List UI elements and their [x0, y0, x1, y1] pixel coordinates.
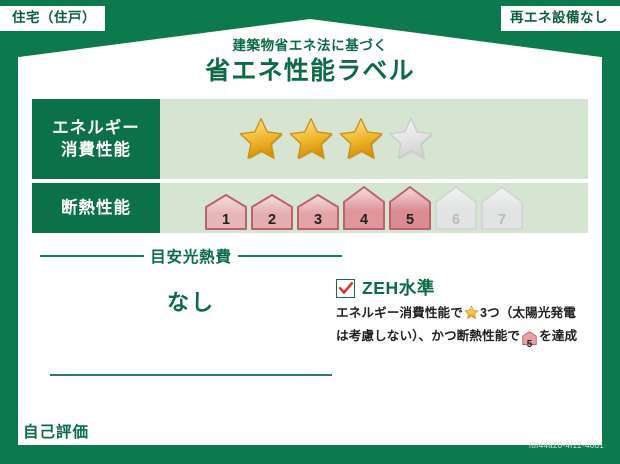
- footer-right-group: 評価日 2025年10月30日 f8f44a20-4f12-46d1: [455, 419, 604, 450]
- status-badge: 自己評価: [18, 422, 94, 445]
- house-icon-inactive: [480, 186, 524, 230]
- star-filled-icon: [288, 116, 334, 162]
- utility-cost-underline: [50, 374, 332, 376]
- zeh-desc-star-count: 3つ（太陽光発電: [480, 306, 576, 320]
- insulation-step: 2: [250, 186, 294, 230]
- zeh-desc-part2: は考慮しない）、かつ断熱性能で: [336, 329, 520, 343]
- house-icon-inactive: [434, 186, 478, 230]
- inline-star-icon: [464, 305, 479, 327]
- star-filled-icon: [338, 116, 384, 162]
- row-energy-performance: エネルギー 消費性能: [32, 99, 588, 179]
- inline-house-num: 5: [522, 340, 537, 350]
- zeh-block: ZEH水準 エネルギー消費性能で 3つ（太陽光発電は考慮しない）、かつ断熱性能で: [336, 279, 588, 351]
- label-footer: 自己評価 4355狭山市水野36期1棟1号棟 評価日 2025年10月30日 f…: [0, 416, 620, 464]
- energy-label-line1: エネルギー: [52, 117, 140, 139]
- insulation-step: 5: [388, 186, 432, 230]
- zeh-description: エネルギー消費性能で 3つ（太陽光発電は考慮しない）、かつ断熱性能で: [336, 304, 588, 351]
- house-icon-active: [296, 186, 340, 230]
- insulation-step: 6: [434, 186, 478, 230]
- utility-cost-value: なし: [40, 285, 342, 317]
- rule-right: [238, 255, 342, 257]
- rule-left: [40, 255, 144, 257]
- house-icon-active: [388, 186, 432, 230]
- zeh-desc-part3: を達成: [539, 329, 577, 343]
- insulation-performance-value: 1234567: [160, 183, 588, 233]
- insulation-step: 7: [480, 186, 524, 230]
- house-icon-active: [204, 186, 248, 230]
- insulation-step: 4: [342, 186, 386, 230]
- house-icon-active: [342, 186, 386, 230]
- star-filled-icon: [238, 116, 284, 162]
- energy-label-line2: 消費性能: [61, 139, 131, 161]
- energy-performance-label: エネルギー 消費性能: [32, 99, 160, 179]
- star-rating: [238, 116, 434, 162]
- zeh-desc-part1: エネルギー消費性能で: [336, 306, 463, 320]
- star-empty-icon: [388, 116, 434, 162]
- utility-cost-title: 目安光熱費: [150, 245, 232, 267]
- insulation-label-text: 断熱性能: [61, 197, 131, 219]
- tag-building-type: 住宅（住戸）: [0, 6, 105, 31]
- evaluation-id: f8f44a20-4f12-46d1: [455, 441, 604, 450]
- zeh-title: ZEH水準: [362, 280, 435, 298]
- utility-cost-header: 目安光熱費: [40, 245, 342, 267]
- energy-performance-value: [160, 99, 588, 179]
- evaluation-date: 評価日 2025年10月30日: [455, 419, 604, 439]
- tag-renewable-energy: 再エネ設備なし: [501, 6, 620, 31]
- property-address: 4355狭山市水野36期1棟1号棟: [101, 423, 286, 443]
- zeh-header: ZEH水準: [336, 279, 588, 298]
- row-insulation-performance: 断熱性能 1234567: [32, 183, 588, 233]
- insulation-step: 3: [296, 186, 340, 230]
- inline-house-badge: 5: [522, 331, 537, 352]
- insulation-step: 1: [204, 186, 248, 230]
- energy-label-card: 住宅（住戸） 再エネ設備なし 建築物省エネ法に基づく 省エネ性能ラベル エネルギ…: [0, 0, 620, 464]
- label-body-panel: エネルギー 消費性能 断熱性能 1234567 目安光熱費 なし: [18, 89, 602, 445]
- footer-left-group: 自己評価 4355狭山市水野36期1棟1号棟: [18, 422, 286, 445]
- insulation-scale: 1234567: [204, 186, 524, 230]
- house-icon-active: [250, 186, 294, 230]
- insulation-performance-label: 断熱性能: [32, 183, 160, 233]
- checkbox-checked-icon: [336, 279, 355, 298]
